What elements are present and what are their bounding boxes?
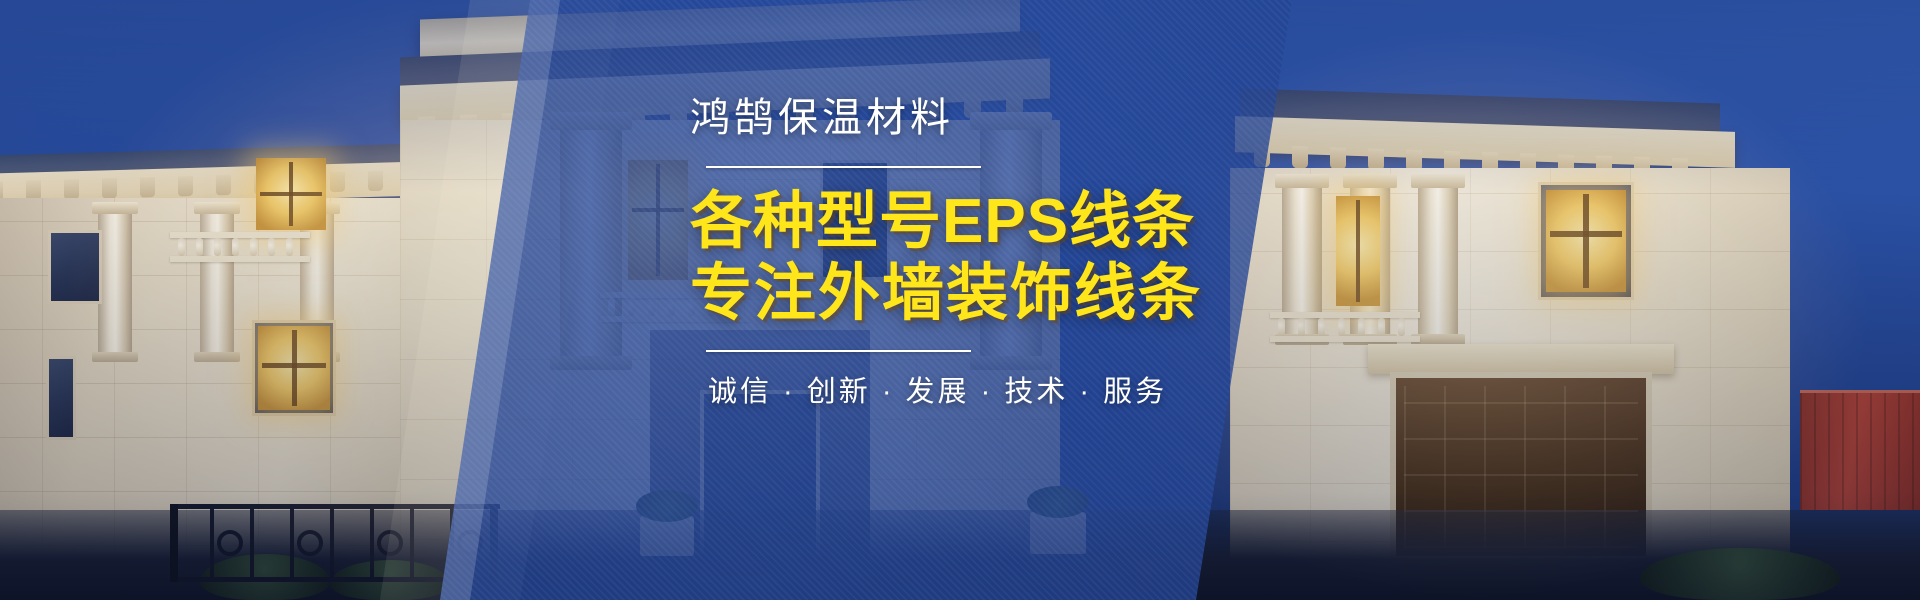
divider-upper bbox=[706, 166, 981, 168]
banner-text-block: 鸿鹄保温材料 各种型号EPS线条 专注外墙装饰线条 诚信 · 创新 · 发展 ·… bbox=[690, 96, 1310, 410]
headline-group: 各种型号EPS线条 专注外墙装饰线条 bbox=[690, 186, 1310, 330]
headline-line-2: 专注外墙装饰线条 bbox=[690, 258, 1310, 330]
brand-name: 鸿鹄保温材料 bbox=[690, 96, 1310, 140]
headline-line-1: 各种型号EPS线条 bbox=[690, 186, 1310, 258]
divider-lower bbox=[706, 350, 971, 352]
tagline: 诚信 · 创新 · 发展 · 技术 · 服务 bbox=[708, 368, 1310, 410]
hero-banner: 鸿鹄保温材料 各种型号EPS线条 专注外墙装饰线条 诚信 · 创新 · 发展 ·… bbox=[0, 0, 1920, 600]
